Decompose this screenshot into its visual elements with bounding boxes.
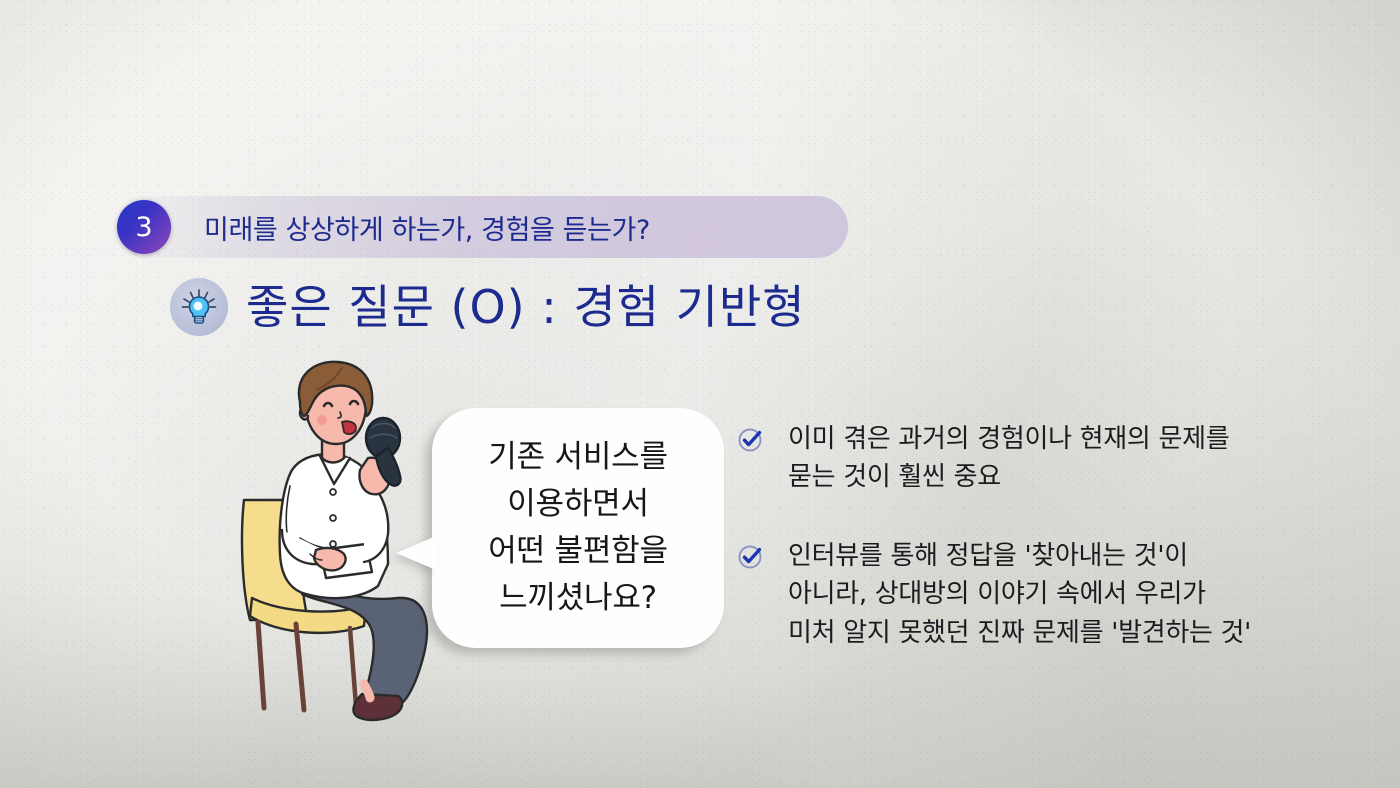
- list-item-line: 인터뷰를 통해 정답을 '찾아내는 것'이: [788, 537, 1251, 575]
- lightbulb-icon: [170, 278, 228, 336]
- list-item-text: 인터뷰를 통해 정답을 '찾아내는 것'이 아니라, 상대방의 이야기 속에서 …: [788, 537, 1251, 652]
- bullet-list: 이미 겪은 과거의 경험이나 현재의 문제를 묻는 것이 훨씬 중요 인터뷰를 …: [736, 420, 1356, 652]
- list-item-line: 이미 겪은 과거의 경험이나 현재의 문제를: [788, 420, 1229, 458]
- list-item: 이미 겪은 과거의 경험이나 현재의 문제를 묻는 것이 훨씬 중요: [736, 420, 1356, 497]
- check-circle-icon: [736, 542, 766, 572]
- list-item-line: 아니라, 상대방의 이야기 속에서 우리가: [788, 575, 1251, 613]
- list-item-text: 이미 겪은 과거의 경험이나 현재의 문제를 묻는 것이 훨씬 중요: [788, 420, 1229, 497]
- speech-bubble: 기존 서비스를 이용하면서 어떤 불편함을 느끼셨나요?: [432, 408, 724, 648]
- speech-bubble-tail: [396, 536, 436, 570]
- speech-bubble-line: 이용하면서: [507, 481, 649, 528]
- list-item-line: 묻는 것이 훨씬 중요: [788, 458, 1229, 496]
- slide-canvas: 3 미래를 상상하게 하는가, 경험을 듣는가?: [0, 0, 1400, 788]
- section-banner: 3 미래를 상상하게 하는가, 경험을 듣는가?: [112, 196, 848, 258]
- step-number-badge: 3: [117, 200, 171, 254]
- list-item: 인터뷰를 통해 정답을 '찾아내는 것'이 아니라, 상대방의 이야기 속에서 …: [736, 537, 1356, 652]
- banner-title: 미래를 상상하게 하는가, 경험을 듣는가?: [204, 208, 650, 247]
- check-circle-icon: [736, 425, 766, 455]
- background-grain-texture: [0, 0, 1400, 788]
- list-item-line: 미처 알지 못했던 진짜 문제를 '발견하는 것': [788, 614, 1251, 652]
- step-number-label: 3: [135, 214, 152, 241]
- speech-bubble-line: 어떤 불편함을: [488, 528, 668, 575]
- heading-title: 좋은 질문 (O) : 경험 기반형: [246, 284, 806, 330]
- slide-heading: 좋은 질문 (O) : 경험 기반형: [170, 278, 806, 336]
- speech-bubble-line: 기존 서비스를: [488, 434, 668, 481]
- background-vignette: [0, 0, 1400, 788]
- speech-bubble-line: 느끼셨나요?: [499, 575, 657, 622]
